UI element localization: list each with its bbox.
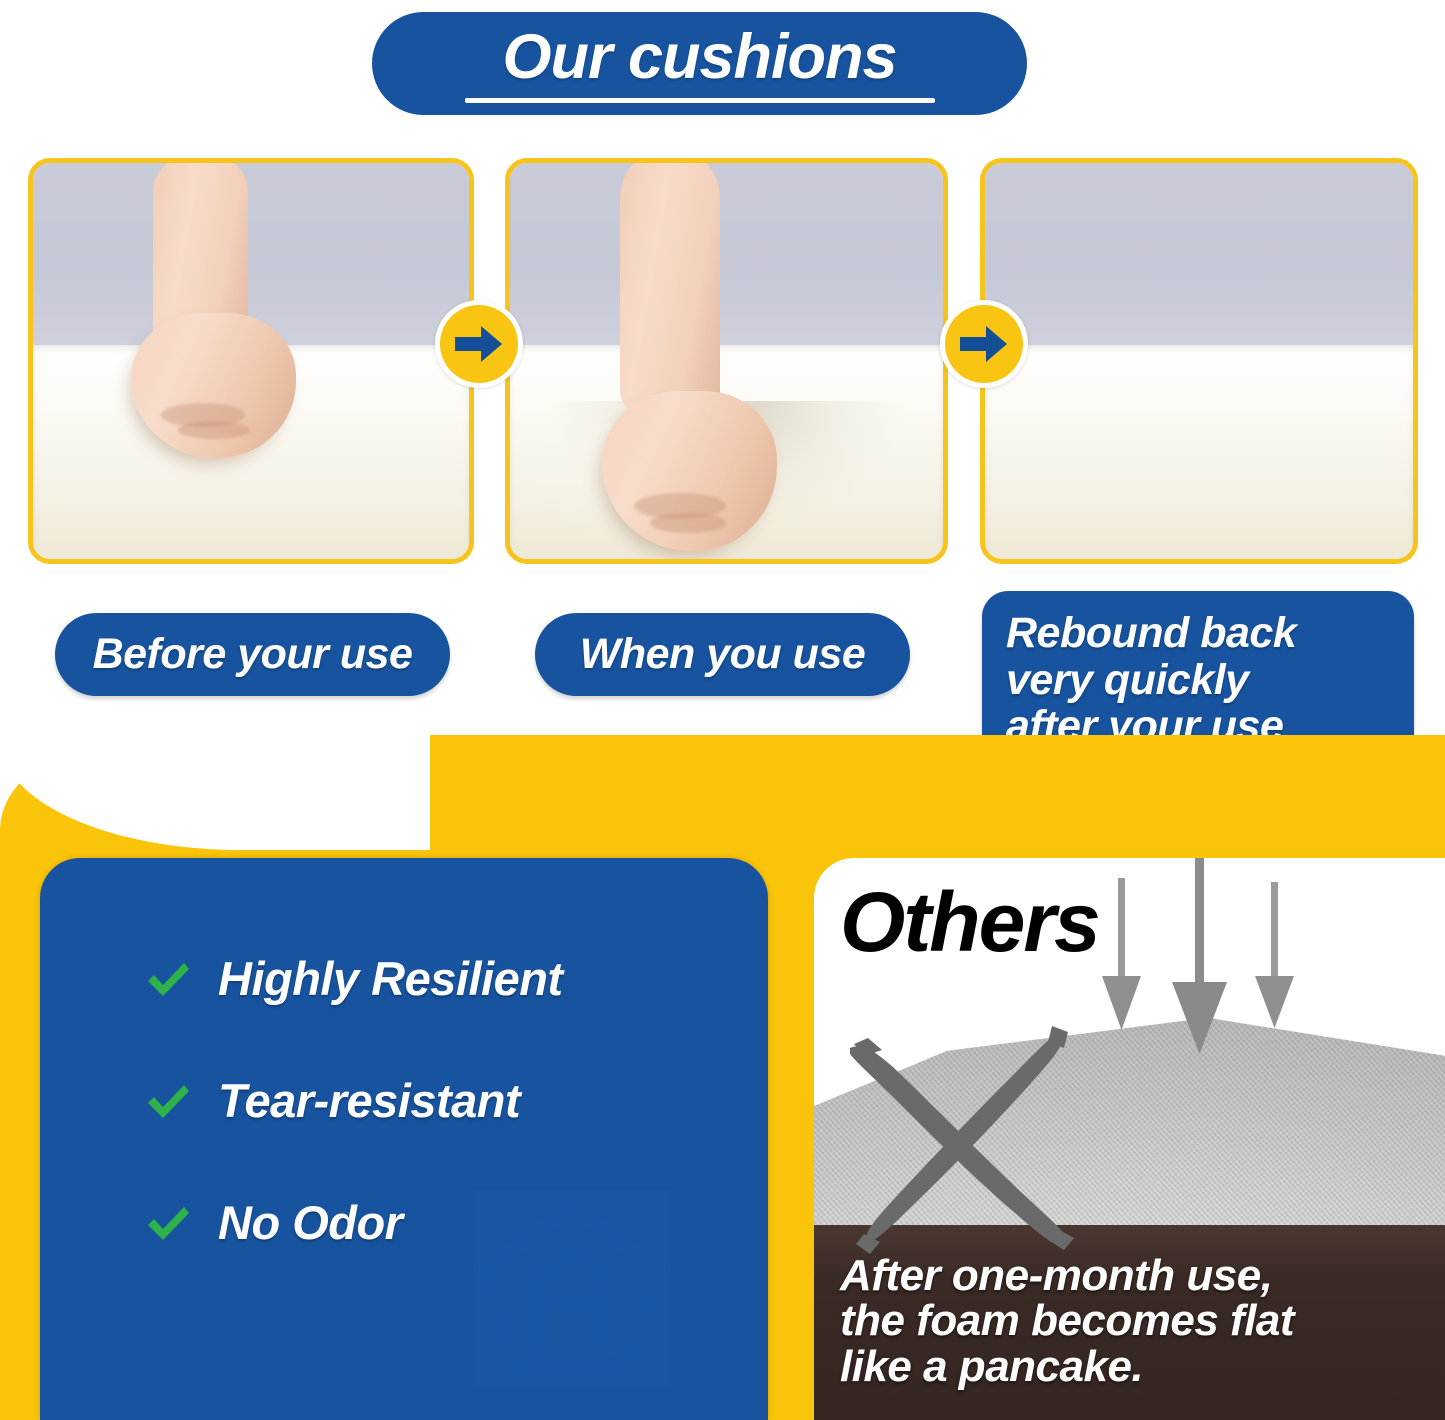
infographic-page: Our cushions bbox=[0, 0, 1445, 1420]
others-title: Others bbox=[840, 880, 1099, 964]
others-caption: After one-month use, the foam becomes fl… bbox=[840, 1253, 1440, 1389]
photo-background-wall bbox=[985, 163, 1413, 353]
blue-right-arrow-icon bbox=[960, 325, 1008, 363]
photo-background-wall bbox=[510, 163, 943, 353]
others-caption-line-3: like a pancake. bbox=[840, 1344, 1440, 1389]
gray-brush-x-icon bbox=[824, 998, 1114, 1278]
three-gray-down-arrows-icon bbox=[1094, 858, 1314, 1068]
page-title-banner: Our cushions bbox=[372, 12, 1027, 115]
step-label-during: When you use bbox=[535, 613, 910, 696]
feature-label: No Odor bbox=[218, 1195, 402, 1250]
others-caption-line-2: the foam becomes flat bbox=[840, 1298, 1440, 1343]
photo-knuckle-shade bbox=[650, 513, 726, 533]
step-arrow-badge-2 bbox=[940, 300, 1028, 388]
blue-right-arrow-icon bbox=[455, 325, 503, 363]
step-photo-during bbox=[505, 158, 948, 564]
photo-forearm bbox=[620, 158, 720, 419]
title-underline bbox=[465, 98, 935, 103]
step-label-during-text: When you use bbox=[580, 630, 865, 679]
page-title: Our cushions bbox=[502, 26, 896, 89]
green-check-icon bbox=[144, 1199, 192, 1247]
step-arrow-badge-1 bbox=[435, 300, 523, 388]
photo-knuckle-shade bbox=[178, 421, 250, 439]
step-label-after-line-1: Rebound back bbox=[1006, 610, 1296, 656]
step-label-after-line-2: very quickly bbox=[1006, 657, 1249, 703]
step-label-before-text: Before your use bbox=[93, 630, 413, 679]
photo-scene-before bbox=[33, 163, 469, 559]
pentagon-a-logo-icon bbox=[468, 1186, 676, 1391]
feature-label: Tear-resistant bbox=[218, 1073, 520, 1128]
feature-item: Tear-resistant bbox=[144, 1073, 563, 1128]
photo-scene-during bbox=[510, 163, 943, 559]
step-label-before: Before your use bbox=[55, 613, 450, 696]
feature-label: Highly Resilient bbox=[218, 951, 563, 1006]
green-check-icon bbox=[144, 1077, 192, 1125]
others-caption-line-1: After one-month use, bbox=[840, 1253, 1440, 1298]
photo-foam-slab bbox=[985, 345, 1413, 559]
photo-scene-after bbox=[985, 163, 1413, 559]
green-check-icon bbox=[144, 955, 192, 1003]
step-photo-before bbox=[28, 158, 474, 564]
step-photo-after bbox=[980, 158, 1418, 564]
feature-item: Highly Resilient bbox=[144, 951, 563, 1006]
